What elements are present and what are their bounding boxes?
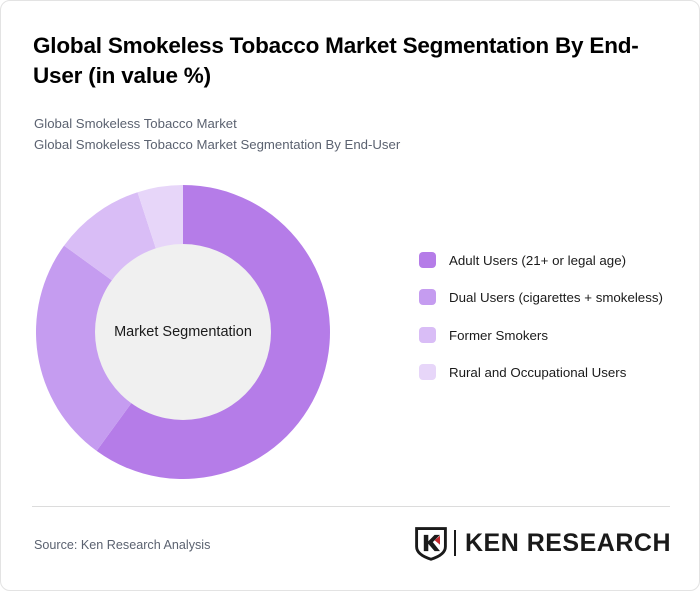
legend-item-label: Dual Users (cigarettes + smokeless) [449,288,663,307]
logo-wordmark: KEN RESEARCH [465,529,671,558]
page-title: Global Smokeless Tobacco Market Segmenta… [33,31,653,91]
source-note: Source: Ken Research Analysis [34,538,210,552]
legend-item[interactable]: Adult Users (21+ or legal age) [419,251,681,270]
legend-item-label: Rural and Occupational Users [449,363,626,382]
chart-card: Global Smokeless Tobacco Market Segmenta… [0,0,700,591]
chart-area: Market Segmentation Adult Users (21+ or … [1,161,700,496]
chart-legend: Adult Users (21+ or legal age)Dual Users… [419,251,681,382]
ken-research-logo: KEN RESEARCH [413,523,671,563]
legend-item[interactable]: Rural and Occupational Users [419,363,681,382]
legend-item-label: Former Smokers [449,326,548,345]
legend-item[interactable]: Dual Users (cigarettes + smokeless) [419,288,681,307]
subtitle-block: Global Smokeless Tobacco Market Global S… [34,113,634,156]
legend-swatch-icon [419,364,436,380]
legend-swatch-icon [419,327,436,343]
legend-swatch-icon [419,289,436,305]
legend-item-label: Adult Users (21+ or legal age) [449,251,626,270]
subtitle-line-1: Global Smokeless Tobacco Market [34,113,634,134]
footer-divider [32,506,670,507]
ken-research-shield-icon [413,525,449,561]
donut-svg [36,185,330,479]
legend-swatch-icon [419,252,436,268]
subtitle-line-2: Global Smokeless Tobacco Market Segmenta… [34,134,634,155]
legend-item[interactable]: Former Smokers [419,326,681,345]
donut-chart: Market Segmentation [36,185,330,479]
logo-divider [454,530,456,556]
donut-hole [95,244,271,420]
